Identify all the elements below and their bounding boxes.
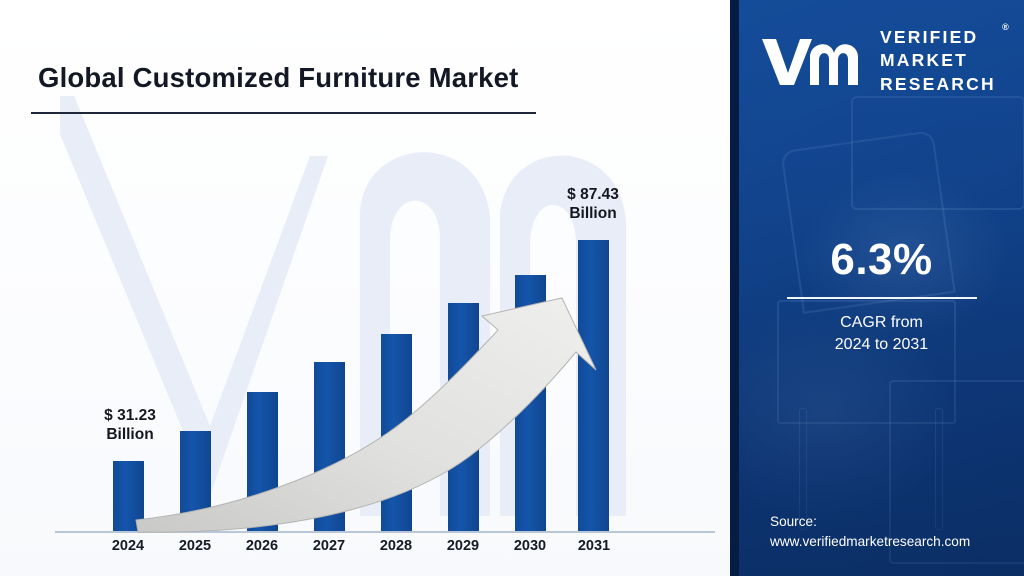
x-tick-2030: 2030 — [495, 538, 565, 554]
infographic-root: Global Customized Furniture Market — [0, 0, 1024, 576]
cagr-caption: CAGR from 2024 to 2031 — [739, 312, 1024, 355]
brand-sidebar: VERIFIED MARKET RESEARCH ® 6.3% CAGR fro… — [730, 0, 1024, 576]
bar-2029[interactable] — [448, 303, 479, 531]
brand-line-research: RESEARCH — [880, 73, 996, 96]
x-tick-2026: 2026 — [227, 538, 297, 554]
source-url[interactable]: www.verifiedmarketresearch.com — [770, 532, 970, 552]
source-label: Source: — [770, 512, 970, 532]
registered-trademark-icon: ® — [1002, 22, 1009, 34]
brand-logo-text: VERIFIED MARKET RESEARCH ® — [880, 26, 996, 95]
cagr-value: 6.3% — [739, 238, 1024, 282]
chart-panel: Global Customized Furniture Market — [0, 0, 730, 576]
x-tick-2028: 2028 — [361, 538, 431, 554]
bar-chart-plot: 2024 2025 2026 2027 2028 2029 2030 2031 … — [0, 0, 730, 576]
brand-logo[interactable]: VERIFIED MARKET RESEARCH ® — [760, 22, 1018, 100]
x-tick-2027: 2027 — [294, 538, 364, 554]
bar-2028[interactable] — [381, 334, 412, 531]
bar-2024[interactable] — [113, 461, 144, 531]
brand-line-market: MARKET — [880, 49, 996, 72]
bar-2031[interactable] — [578, 240, 609, 531]
value-label-2031: $ 87.43 Billion — [541, 185, 645, 224]
cagr-divider — [787, 297, 977, 299]
bar-2027[interactable] — [314, 362, 345, 531]
bar-2025[interactable] — [180, 431, 211, 531]
vmr-monogram-icon — [760, 35, 866, 87]
x-axis-line — [55, 531, 715, 533]
x-tick-2031: 2031 — [559, 538, 629, 554]
x-tick-2025: 2025 — [160, 538, 230, 554]
brand-line-verified: VERIFIED — [880, 26, 996, 49]
source-block: Source: www.verifiedmarketresearch.com — [770, 512, 970, 551]
sidebar-left-edge — [730, 0, 739, 576]
cagr-block: 6.3% CAGR from 2024 to 2031 — [739, 238, 1024, 355]
value-label-2024: $ 31.23 Billion — [78, 406, 182, 445]
x-tick-2029: 2029 — [428, 538, 498, 554]
bar-2026[interactable] — [247, 392, 278, 531]
bar-2030[interactable] — [515, 275, 546, 531]
x-tick-2024: 2024 — [93, 538, 163, 554]
